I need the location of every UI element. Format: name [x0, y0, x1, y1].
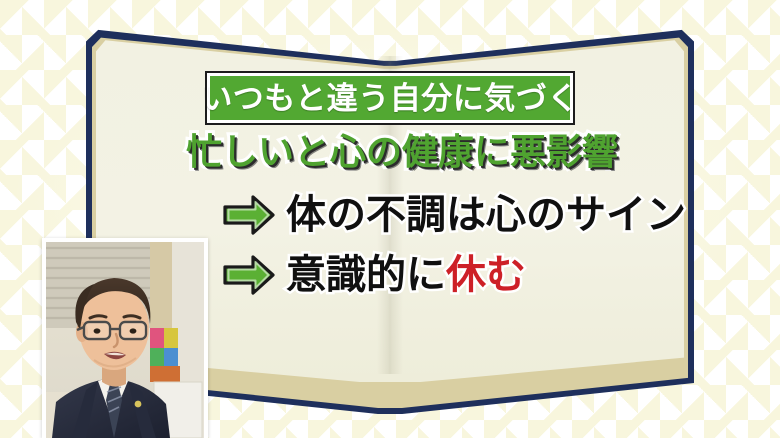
- photo-frame: [46, 242, 204, 438]
- photo-inset: [42, 238, 208, 438]
- slide-canvas: いつもと違う自分に気づく 忙しいと心の健康に悪影響 体の不調は心のサイン: [0, 0, 780, 438]
